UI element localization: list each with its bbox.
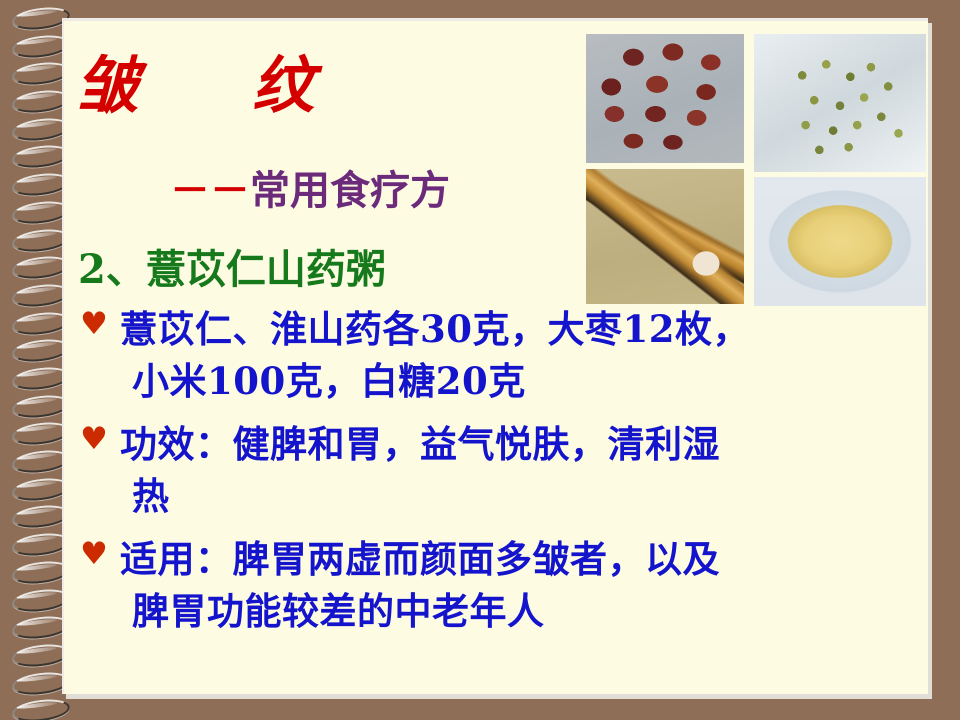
bullet-line-continuation: 热	[120, 470, 934, 522]
notebook-page: 皱 纹 －－常用食疗方 2、薏苡仁山药粥 ♥ 薏苡仁、淮山药各30克，大枣12枚…	[62, 18, 928, 694]
bullet-line-primary: 薏苡仁、淮山药各30克，大枣12枚，	[120, 307, 750, 351]
photo-chinese-yam	[586, 169, 744, 304]
list-item: ♥ 功效：健脾和胃，益气悦肤，清利湿 热	[74, 418, 934, 522]
list-item: ♥ 薏苡仁、淮山药各30克，大枣12枚， 小米100克，白糖20克	[74, 303, 934, 407]
subtitle-text: 常用食疗方	[250, 167, 450, 214]
section-heading: 2、薏苡仁山药粥	[78, 237, 386, 295]
photo-millet-plate	[754, 177, 926, 306]
bullet-line-primary: 适用：脾胃两虚而颜面多皱者，以及	[120, 537, 720, 581]
heart-bullet-icon: ♥	[80, 539, 108, 570]
binding-coil	[11, 697, 71, 720]
slide-canvas: 皱 纹 －－常用食疗方 2、薏苡仁山药粥 ♥ 薏苡仁、淮山药各30克，大枣12枚…	[0, 0, 960, 720]
heart-bullet-icon: ♥	[80, 309, 108, 340]
photo-red-dates	[586, 34, 744, 163]
list-item: ♥ 适用：脾胃两虚而颜面多皱者，以及 脾胃功能较差的中老年人	[74, 533, 934, 637]
subtitle-dash: －－	[170, 167, 250, 214]
bullet-line-continuation: 小米100克，白糖20克	[120, 355, 934, 407]
spiral-binding	[0, 0, 62, 720]
heart-bullet-icon: ♥	[80, 424, 108, 455]
bullet-line-primary: 功效：健脾和胃，益气悦肤，清利湿	[120, 422, 720, 466]
bullet-line-continuation: 脾胃功能较差的中老年人	[120, 585, 934, 637]
page-subtitle: －－常用食疗方	[170, 158, 450, 216]
photo-grid	[586, 34, 926, 306]
photo-coix-seeds	[754, 34, 926, 172]
page-title: 皱 纹	[76, 35, 340, 125]
bullet-list: ♥ 薏苡仁、淮山药各30克，大枣12枚， 小米100克，白糖20克 ♥ 功效：健…	[74, 303, 934, 648]
